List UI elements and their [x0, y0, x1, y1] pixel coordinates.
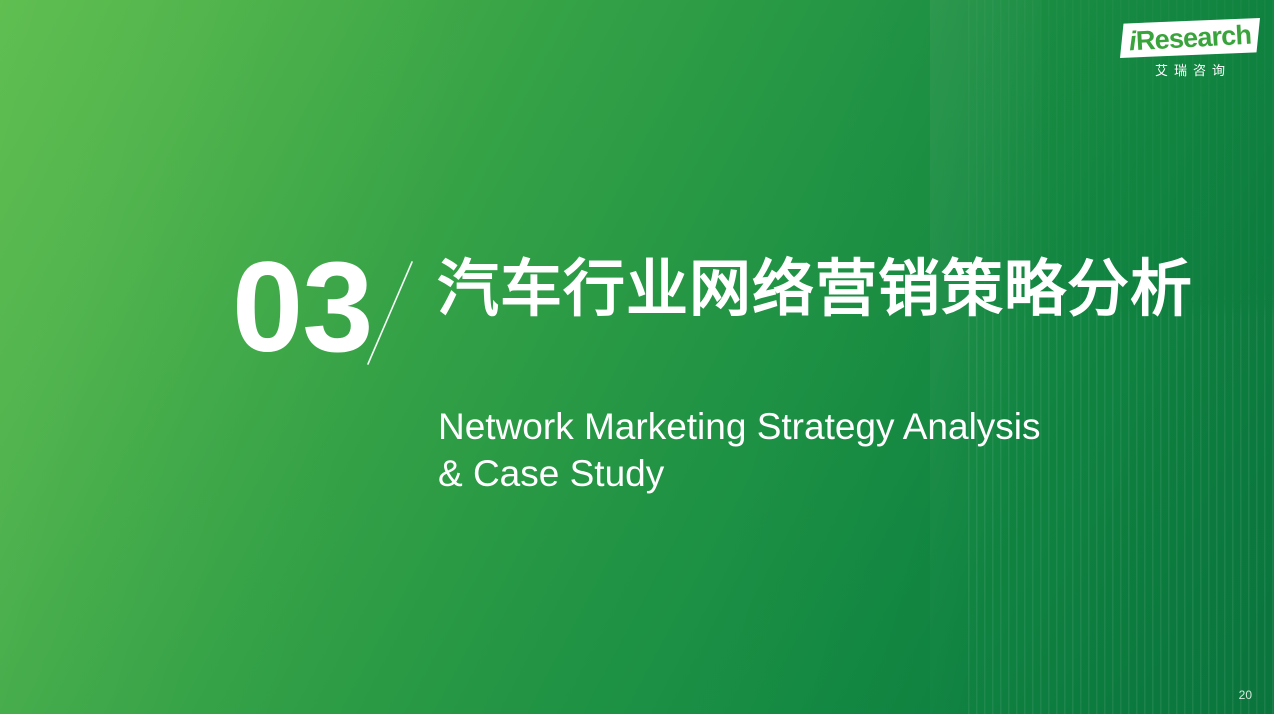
background-sheen-overlay [0, 0, 1274, 714]
logo-wordmark: iResearch [1119, 14, 1261, 62]
iresearch-logo: iResearch 艾瑞咨询 [1120, 18, 1260, 86]
logo-research-text: Research [1135, 21, 1252, 54]
section-number: 03 [232, 244, 372, 372]
background-sheen-band [930, 0, 1040, 714]
page-title: 汽车行业网络营销策略分析 [437, 254, 1193, 323]
page-subtitle: Network Marketing Strategy Analysis & Ca… [438, 404, 1041, 498]
background-stripes-pattern [968, 0, 1274, 714]
page-number: 20 [1239, 688, 1252, 702]
logo-chinese-text: 艾瑞咨询 [1120, 60, 1260, 79]
slide-section-divider: iResearch 艾瑞咨询 03 汽车行业网络营销策略分析 Network M… [0, 0, 1274, 714]
